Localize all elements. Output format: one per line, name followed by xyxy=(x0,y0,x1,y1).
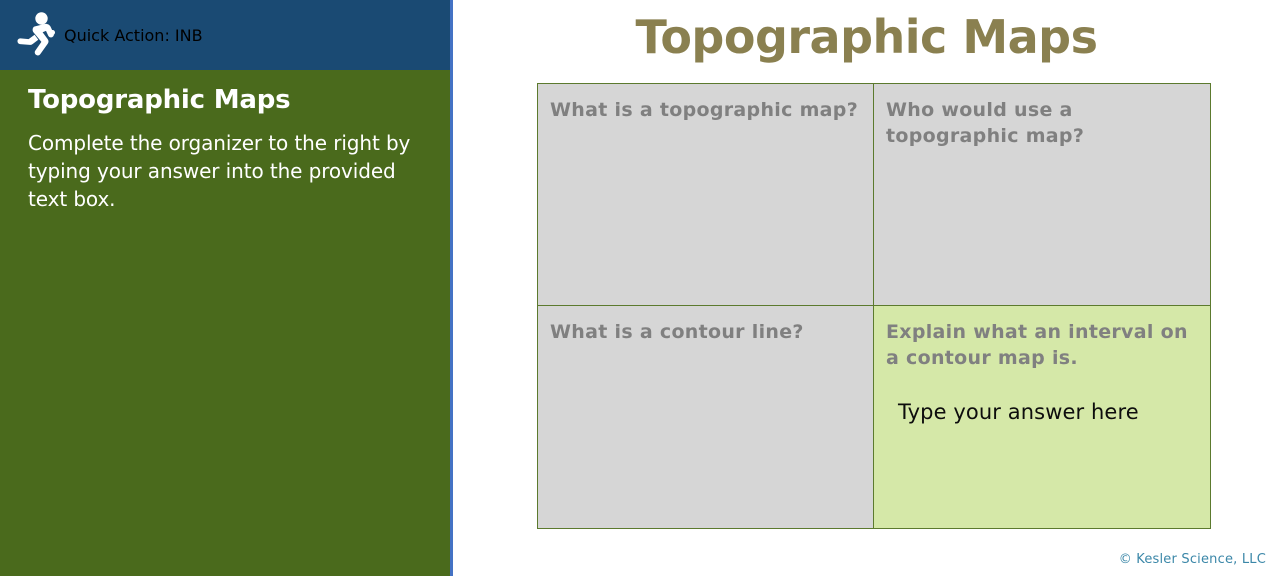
instructions-text: Complete the organizer to the right by t… xyxy=(28,129,424,214)
organizer-cell-what-is-topographic-map[interactable]: What is a topographic map? xyxy=(538,84,874,306)
cell-prompt-label: What is a contour line? xyxy=(550,320,859,346)
organizer-cell-explain-interval[interactable]: Explain what an interval on a contour ma… xyxy=(873,306,1210,528)
main-content-area: Topographic Maps What is a topographic m… xyxy=(453,0,1280,576)
quick-action-title: Quick Action: INB xyxy=(64,26,203,45)
left-sidebar-panel: Quick Action: INB Topographic Maps Compl… xyxy=(0,0,453,576)
organizer-cell-who-would-use[interactable]: Who would use a topographic map? xyxy=(874,84,1210,306)
graphic-organizer-grid: What is a topographic map? Who would use… xyxy=(537,83,1211,529)
lesson-subtitle: Topographic Maps xyxy=(28,86,424,115)
page-title: Topographic Maps xyxy=(453,12,1280,63)
answer-input-text[interactable]: Type your answer here xyxy=(898,399,1196,426)
cell-prompt-label: Who would use a topographic map? xyxy=(886,98,1196,149)
cell-prompt-label: What is a topographic map? xyxy=(550,98,859,124)
organizer-cell-what-is-contour-line[interactable]: What is a contour line? xyxy=(538,306,874,528)
copyright-notice: © Kesler Science, LLC xyxy=(1119,552,1266,567)
cell-prompt-label: Explain what an interval on a contour ma… xyxy=(886,320,1196,371)
running-person-icon xyxy=(14,11,58,57)
left-panel-body: Topographic Maps Complete the organizer … xyxy=(0,70,450,576)
quick-action-header: Quick Action: INB xyxy=(0,0,450,70)
